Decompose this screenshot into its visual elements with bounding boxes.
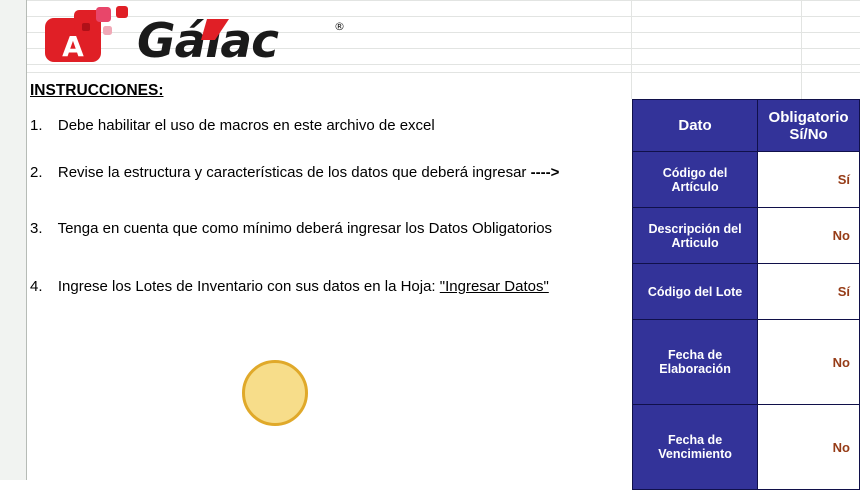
instruction-text: Revise la estructura y características d… — [58, 164, 531, 181]
instruction-item-2: 2. Revise la estructura y característica… — [30, 164, 559, 181]
galac-mark-icon: A — [45, 6, 128, 63]
table-cell-dato: Fecha de Vencimiento — [633, 405, 758, 490]
table-cell-obligatorio: No — [758, 405, 860, 490]
yellow-circle-shape[interactable] — [242, 360, 308, 426]
table-cell-obligatorio: No — [758, 208, 860, 264]
table-header-dato: Dato — [633, 100, 758, 152]
row-header-gutter — [0, 0, 27, 480]
instruction-item-3: 3. Tenga en cuenta que como mínimo deber… — [30, 220, 552, 237]
gridline-h — [27, 72, 860, 73]
svg-text:A: A — [62, 30, 84, 63]
instruction-number: 3. — [30, 220, 43, 237]
table-header-row: Dato Obligatorio Sí/No — [633, 100, 860, 152]
spreadsheet-canvas[interactable]: 1 2 3 4 5 6 7 8 9 10 11 12 A Gálac — [0, 0, 860, 480]
table-header-obligatorio-line1: Obligatorio — [769, 109, 849, 126]
table-row: Fecha de Vencimiento No — [633, 405, 860, 490]
instruction-arrow: ----> — [531, 164, 560, 181]
table-row: Código del Lote Sí — [633, 264, 860, 320]
table-cell-obligatorio: Sí — [758, 152, 860, 208]
table-row: Descripción del Articulo No — [633, 208, 860, 264]
instruction-item-4: 4. Ingrese los Lotes de Inventario con s… — [30, 278, 549, 295]
instruction-text: Tenga en cuenta que como mínimo deberá i… — [58, 220, 552, 237]
instruction-item-1: 1. Debe habilitar el uso de macros en es… — [30, 117, 435, 134]
table-row: Código del Artículo Sí — [633, 152, 860, 208]
gridline-h — [27, 0, 860, 1]
galac-wordmark: Gálac ® — [137, 14, 345, 68]
table-cell-dato: Código del Lote — [633, 264, 758, 320]
table-cell-dato: Descripción del Articulo — [633, 208, 758, 264]
galac-logo: A Gálac ® — [40, 6, 350, 68]
instruction-text: Ingrese los Lotes de Inventario con sus … — [58, 278, 440, 295]
table-cell-dato: Fecha de Elaboración — [633, 320, 758, 405]
table-header-obligatorio: Obligatorio Sí/No — [758, 100, 860, 152]
table-cell-obligatorio: Sí — [758, 264, 860, 320]
svg-text:®: ® — [334, 20, 345, 33]
table-cell-dato: Código del Artículo — [633, 152, 758, 208]
table-row: Fecha de Elaboración No — [633, 320, 860, 405]
gridline-v — [631, 0, 632, 99]
instructions-heading: INSTRUCCIONES: — [30, 82, 163, 100]
instruction-number: 2. — [30, 164, 43, 181]
table-cell-obligatorio: No — [758, 320, 860, 405]
instruction-number: 4. — [30, 278, 43, 295]
table-header-obligatorio-line2: Sí/No — [789, 126, 827, 143]
data-requirements-table: Dato Obligatorio Sí/No Código del Artícu… — [632, 99, 860, 490]
instruction-number: 1. — [30, 117, 43, 134]
instruction-text: Debe habilitar el uso de macros en este … — [58, 117, 435, 134]
gridline-v — [801, 0, 802, 99]
sheet-reference-link[interactable]: "Ingresar Datos" — [440, 278, 549, 295]
